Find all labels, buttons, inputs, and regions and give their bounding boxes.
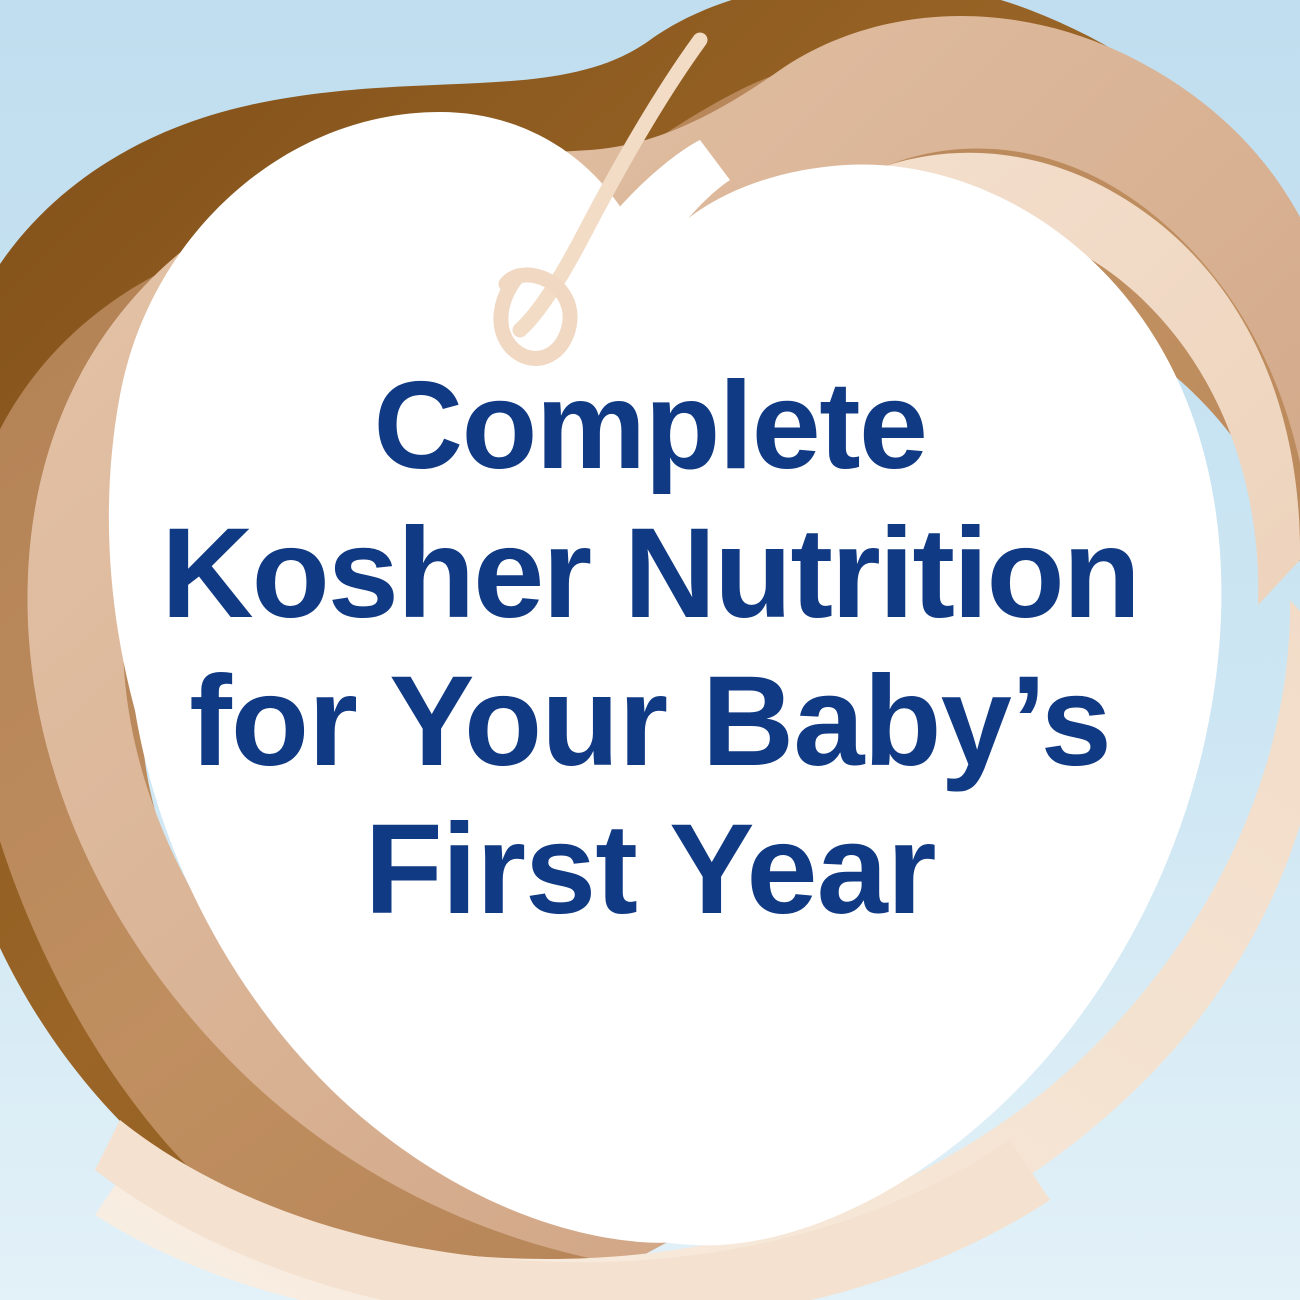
- marketing-banner: Complete Kosher Nutrition for Your Baby’…: [0, 0, 1300, 1300]
- heart-ribbon-artwork: [0, 0, 1300, 1300]
